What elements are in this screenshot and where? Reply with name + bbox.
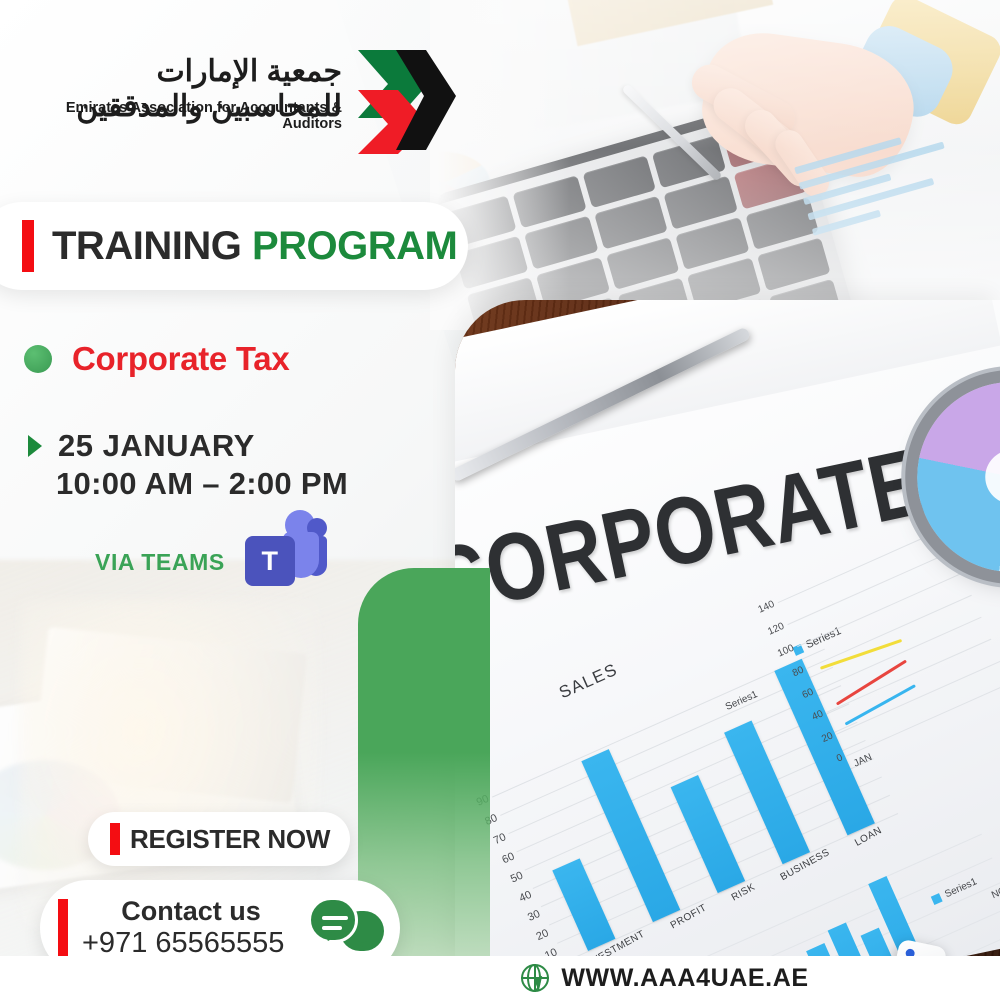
chevron-logo-mark-icon	[352, 44, 462, 156]
page-title: TRAINING PROGRAM	[52, 224, 457, 269]
contact-title: Contact us	[82, 896, 300, 927]
microsoft-teams-icon: T	[243, 512, 327, 590]
footer-bar: WWW.AAA4UAE.AE	[0, 956, 1000, 1000]
title-word-program: PROGRAM	[252, 224, 457, 268]
line-chart-xlabel: JAN	[852, 752, 874, 770]
website-url: WWW.AAA4UAE.AE	[561, 964, 808, 993]
topic-label: Corporate Tax	[72, 340, 289, 378]
green-dot-icon	[24, 345, 52, 373]
brand-logo: جمعية الإمارات للمحاسبين والمدققين Emira…	[22, 46, 452, 156]
training-program-title-card: TRAINING PROGRAM	[0, 202, 468, 290]
poster-canvas: CORPORATE TAX SALES 90 80 70	[0, 0, 1000, 1000]
register-label: REGISTER NOW	[130, 824, 330, 855]
teams-letter-tile: T	[245, 536, 295, 586]
contact-accent-bar	[58, 899, 68, 957]
globe-cursor-icon	[521, 964, 549, 992]
register-accent-bar	[110, 823, 120, 855]
logo-english-name: Emirates Association for Accountants & A…	[22, 100, 342, 132]
platform-label: VIA TEAMS	[95, 549, 225, 576]
event-time: 10:00 AM – 2:00 PM	[56, 466, 348, 502]
chat-bubble-front	[308, 897, 358, 943]
hero-photo	[430, 0, 1000, 330]
chevron-right-icon	[28, 435, 42, 457]
title-word-training: TRAINING	[52, 224, 241, 268]
title-accent-bar	[22, 220, 34, 272]
document-sheet: CORPORATE TAX SALES 90 80 70	[455, 300, 1000, 960]
platform-row: VIA TEAMS T	[95, 512, 327, 590]
register-now-button[interactable]: REGISTER NOW	[88, 812, 350, 866]
website-row[interactable]: WWW.AAA4UAE.AE	[521, 964, 808, 993]
chat-bubbles-icon	[308, 897, 384, 959]
event-date: 25 JANUARY	[58, 428, 255, 464]
topic-row: Corporate Tax	[24, 340, 289, 378]
sales-chart-title: SALES	[556, 660, 621, 704]
contact-text: Contact us +971 65565555	[68, 896, 308, 960]
date-row: 25 JANUARY	[28, 428, 255, 464]
main-photo-panel: CORPORATE TAX SALES 90 80 70	[455, 300, 1000, 960]
